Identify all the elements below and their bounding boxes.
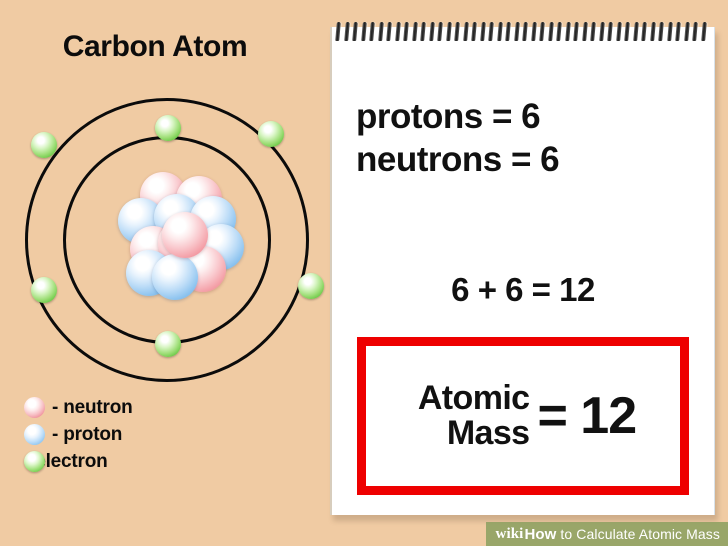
spiral-coil-icon: [378, 22, 384, 41]
spiral-coil-icon: [633, 22, 639, 41]
spiral-coil-icon: [667, 22, 673, 41]
spiral-coil-icon: [590, 22, 596, 41]
electron-outer-2: [298, 273, 324, 299]
spiral-coil-icon: [650, 22, 656, 41]
neutron-sphere: [162, 212, 208, 258]
neutrons-count-line: neutrons = 6: [356, 140, 696, 180]
spiral-coil-icon: [531, 22, 537, 41]
notepad-spiral-binding: [330, 22, 712, 42]
spiral-coil-icon: [556, 22, 562, 41]
protons-count-line: protons = 6: [356, 97, 696, 137]
spiral-coil-icon: [641, 22, 647, 41]
spiral-coil-icon: [420, 22, 426, 41]
spiral-coil-icon: [335, 22, 341, 41]
spiral-coil-icon: [505, 22, 511, 41]
spiral-coil-icon: [684, 22, 690, 41]
spiral-coil-icon: [599, 22, 605, 41]
spiral-coil-icon: [446, 22, 452, 41]
spiral-coil-icon: [395, 22, 401, 41]
electron-inner-1: [155, 115, 181, 141]
atomic-mass-result-inner: Atomic Mass = 12: [366, 346, 680, 486]
electron-outer-4: [31, 132, 57, 158]
legend-label-proton: - proton: [52, 424, 122, 446]
spiral-coil-icon: [658, 22, 664, 41]
notepad-page: protons = 6 neutrons = 6 6 + 6 = 12 Atom…: [330, 27, 715, 515]
legend: - neutron - proton - electron: [24, 394, 254, 475]
page-title: Carbon Atom: [0, 30, 310, 64]
spiral-coil-icon: [344, 22, 350, 41]
spiral-coil-icon: [369, 22, 375, 41]
electron-outer-1: [258, 121, 284, 147]
watermark-subtitle: to Calculate Atomic Mass: [560, 526, 720, 542]
watermark-wiki-text: wiki: [496, 526, 524, 543]
illustration-canvas: Carbon Atom: [0, 0, 728, 546]
spiral-coil-icon: [488, 22, 494, 41]
spiral-coil-icon: [675, 22, 681, 41]
legend-item-electron: - electron: [24, 448, 254, 475]
proton-sphere: [152, 254, 198, 300]
spiral-coil-icon: [539, 22, 545, 41]
legend-item-proton: - proton: [24, 421, 254, 448]
electron-outer-3: [31, 277, 57, 303]
spiral-coil-icon: [692, 22, 698, 41]
spiral-coil-icon: [403, 22, 409, 41]
spiral-coil-icon: [429, 22, 435, 41]
legend-item-neutron: - neutron: [24, 394, 254, 421]
spiral-coil-icon: [701, 22, 707, 41]
atomic-mass-result-box: Atomic Mass = 12: [357, 337, 689, 495]
atomic-mass-label: Atomic Mass: [418, 381, 530, 450]
atomic-mass-value: = 12: [537, 386, 636, 446]
spiral-coil-icon: [437, 22, 443, 41]
spiral-coil-icon: [624, 22, 630, 41]
spiral-coil-icon: [565, 22, 571, 41]
spiral-coil-icon: [522, 22, 528, 41]
spiral-coil-icon: [463, 22, 469, 41]
carbon-atom-diagram: Carbon Atom: [0, 0, 320, 520]
spiral-coil-icon: [352, 22, 358, 41]
atomic-mass-label-line2: Mass: [418, 416, 530, 451]
spiral-coil-icon: [480, 22, 486, 41]
atomic-nucleus: [118, 172, 246, 300]
proton-sphere-icon: [24, 424, 45, 445]
spiral-coil-icon: [386, 22, 392, 41]
spiral-coil-icon: [514, 22, 520, 41]
spiral-coil-icon: [607, 22, 613, 41]
spiral-coil-icon: [454, 22, 460, 41]
spiral-coil-icon: [573, 22, 579, 41]
sum-equation-line: 6 + 6 = 12: [332, 271, 714, 309]
electron-sphere-icon: [24, 451, 45, 472]
spiral-coil-icon: [548, 22, 554, 41]
watermark-how-text: How: [524, 526, 556, 543]
spiral-coil-icon: [471, 22, 477, 41]
spiral-coil-icon: [361, 22, 367, 41]
spiral-coil-icon: [412, 22, 418, 41]
neutron-sphere-icon: [24, 397, 45, 418]
electron-inner-2: [155, 331, 181, 357]
spiral-coil-icon: [582, 22, 588, 41]
legend-label-neutron: - neutron: [52, 397, 133, 419]
spiral-coil-icon: [497, 22, 503, 41]
atomic-mass-label-line1: Atomic: [418, 379, 530, 417]
wikihow-watermark: wiki How to Calculate Atomic Mass: [486, 522, 728, 546]
spiral-coil-icon: [616, 22, 622, 41]
